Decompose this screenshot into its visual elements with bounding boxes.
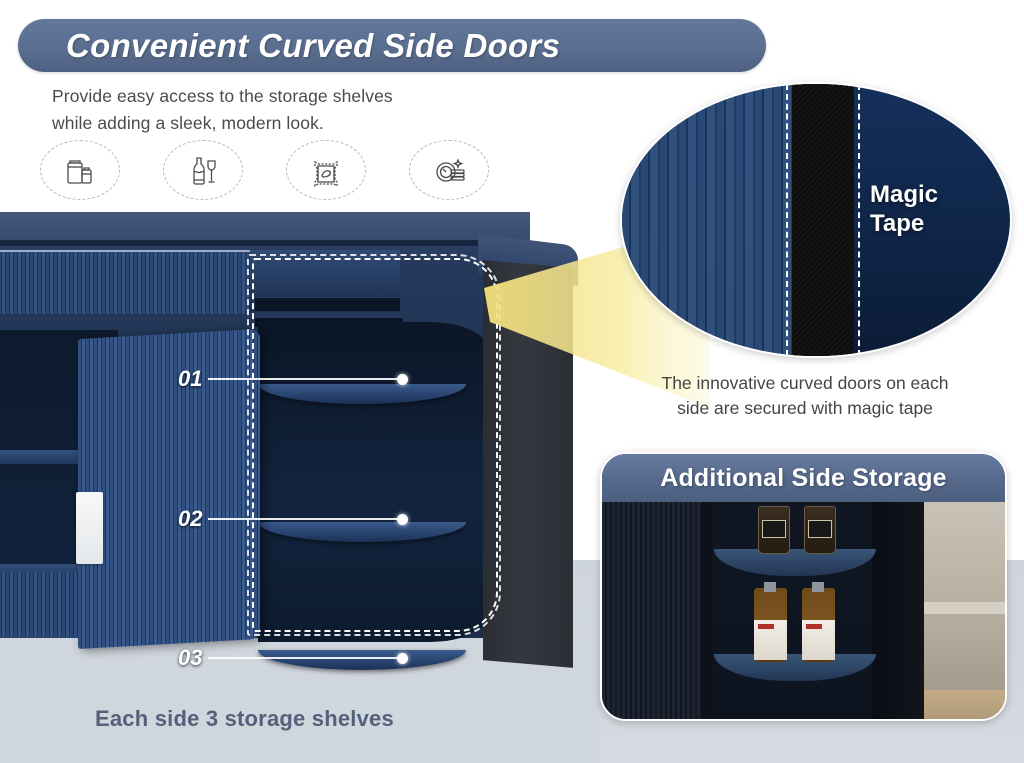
snack-bag-icon	[286, 140, 366, 200]
side-shelf-compartment	[258, 322, 490, 642]
jars-containers-icon	[40, 140, 120, 200]
velcro-tape-strip	[792, 84, 854, 356]
feature-icon-row	[40, 140, 489, 200]
curved-shelf-03	[258, 650, 466, 670]
additional-side-storage-panel: Additional Side Storage	[600, 452, 1007, 721]
title-banner: Convenient Curved Side Doors	[18, 19, 766, 72]
subtitle-line1: Provide easy access to the storage shelv…	[52, 83, 572, 110]
photo-bottle-1-accent	[758, 624, 774, 629]
magic-tape-caption: The innovative curved doors on each side…	[605, 371, 1005, 421]
photo-jar-1-label	[762, 520, 786, 538]
plates-dishes-icon	[409, 140, 489, 200]
side-storage-header: Additional Side Storage	[602, 454, 1005, 502]
subtitle-line2: while adding a sleek, modern look.	[52, 110, 572, 137]
magic-tape-caption-line2: side are secured with magic tape	[605, 396, 1005, 421]
infographic-page: 01 02 03 Each side 3 storage shelves Mag	[0, 0, 1024, 763]
open-curved-door[interactable]	[78, 329, 260, 649]
cabinet-illustration	[0, 212, 600, 682]
cabinet-right-side-panel	[483, 260, 573, 668]
photo-cabinet-side	[872, 502, 924, 719]
tape-dashed-guide-right	[858, 84, 860, 356]
drawer-slide-rail	[255, 297, 400, 311]
cabinet-caption: Each side 3 storage shelves	[95, 706, 394, 732]
side-storage-header-text: Additional Side Storage	[660, 464, 947, 493]
door-handle[interactable]	[76, 492, 103, 564]
photo-jar-2-label	[808, 520, 832, 538]
magic-tape-detail-oval: Magic Tape	[620, 82, 1012, 358]
wine-bottle-glass-icon	[163, 140, 243, 200]
room-wall-trim	[920, 602, 1005, 614]
photo-bottle-2-accent	[806, 624, 822, 629]
tape-dashed-guide-left	[786, 84, 788, 356]
magic-tape-label-line1: Magic	[870, 180, 938, 209]
cabinet-top-surface	[0, 212, 530, 242]
side-storage-photo	[602, 502, 1005, 719]
magic-tape-caption-line1: The innovative curved doors on each	[605, 371, 1005, 396]
page-title: Convenient Curved Side Doors	[66, 27, 560, 65]
photo-cabinet-interior	[712, 502, 882, 719]
ribbed-door-texture	[622, 84, 797, 356]
photo-bottle-2-cap	[812, 582, 824, 592]
magic-tape-label: Magic Tape	[870, 180, 938, 238]
magic-tape-label-line2: Tape	[870, 209, 938, 238]
cabinet-top-edge	[0, 240, 530, 246]
photo-ribbed-panel	[602, 502, 707, 719]
ribbed-drawer-front	[0, 250, 250, 314]
subtitle: Provide easy access to the storage shelv…	[52, 83, 572, 137]
photo-bottle-1-cap	[764, 582, 776, 592]
